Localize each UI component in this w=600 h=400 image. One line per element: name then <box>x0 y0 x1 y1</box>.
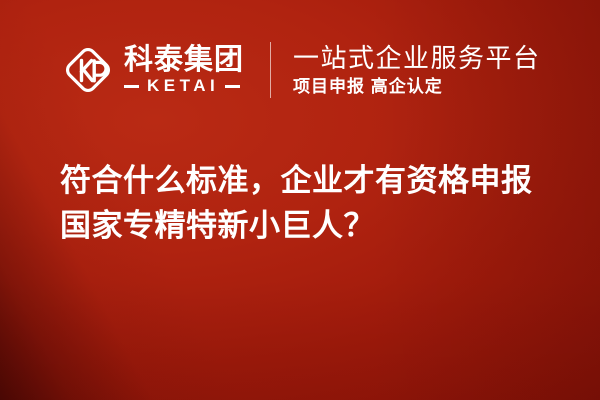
header-vertical-divider <box>270 42 271 98</box>
brand-rule-left-icon <box>124 85 139 88</box>
tagline-primary: 一站式企业服务平台 <box>293 43 541 73</box>
brand-lockup: 科泰集团 KETAI <box>124 41 244 99</box>
brand-name-en: KETAI <box>139 77 225 95</box>
headline-line-1: 符合什么标准，企业才有资格申报 <box>60 158 560 203</box>
promo-banner: 科泰集团 KETAI 一站式企业服务平台 项目申报 高企认定 符合什么标准，企业… <box>0 0 600 400</box>
headline-line-2: 国家专精特新小巨人？ <box>60 203 560 248</box>
banner-header: 科泰集团 KETAI 一站式企业服务平台 项目申报 高企认定 <box>62 36 541 104</box>
tagline-block: 一站式企业服务平台 项目申报 高企认定 <box>293 40 541 100</box>
brand-name-en-row: KETAI <box>124 77 244 95</box>
tagline-secondary: 项目申报 高企认定 <box>293 76 541 98</box>
brand-rule-right-icon <box>225 85 240 88</box>
headline-block: 符合什么标准，企业才有资格申报 国家专精特新小巨人？ <box>60 158 560 248</box>
brand-name-cn: 科泰集团 <box>124 45 244 76</box>
ketai-diamond-kp-logo-icon <box>62 44 114 96</box>
